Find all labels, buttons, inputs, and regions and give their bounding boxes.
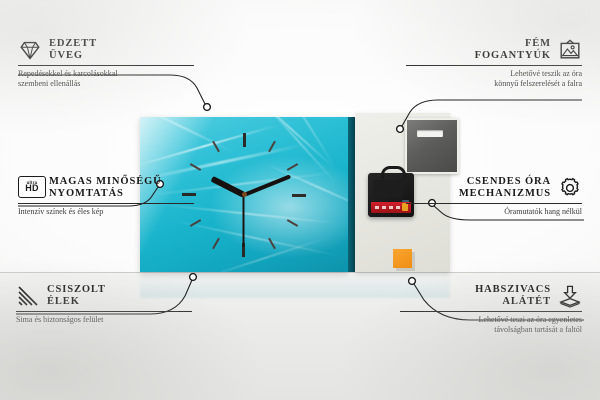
divider [18, 65, 194, 66]
feature-header: CSISZOLT ÉLEK [16, 284, 192, 308]
picture-frame-hanger-icon [558, 38, 582, 62]
feature-subtitle-line2: szembeni ellenállás [18, 79, 194, 89]
feature-title: CSENDES ÓRA MECHANIZMUS [459, 176, 551, 200]
feature-title: FÉM FOGANTYÚK [475, 38, 551, 62]
foam-pad-arrow-icon [558, 284, 582, 308]
feature-header: ultra HD MAGAS MINŐSÉGŰ NYOMTATÁS [18, 176, 194, 200]
mechanism-body-detail [373, 180, 403, 198]
clock-glass-edge [348, 117, 355, 272]
mechanism-battery [371, 202, 411, 213]
foam-spacer-pad [393, 249, 412, 268]
feature-header: FÉM FOGANTYÚK [406, 38, 582, 62]
feature-subtitle-line2: könnyű felszerelését a falra [406, 79, 582, 89]
divider [18, 203, 194, 204]
feature-subtitle-line1: Sima és biztonságos felület [16, 315, 192, 325]
feature-tempered-glass[interactable]: EDZETT ÜVEG Repedésekkel és karcolásokka… [18, 38, 194, 89]
polished-edges-icon [16, 284, 40, 308]
feature-title: CSISZOLT ÉLEK [47, 284, 106, 308]
feature-header: CSENDES ÓRA MECHANIZMUS [406, 176, 582, 200]
feature-subtitle-line2: távolságban tartását a faltól [400, 325, 582, 335]
feature-title: EDZETT ÜVEG [49, 38, 97, 62]
gear-icon [558, 176, 582, 200]
clock-center-pin [242, 192, 247, 197]
feature-foam-spacer[interactable]: HABSZIVACS ALÁTÉT Lehetővé teszi az óra … [400, 284, 582, 335]
divider [16, 311, 192, 312]
divider [406, 65, 582, 66]
feature-title: HABSZIVACS ALÁTÉT [475, 284, 551, 308]
hanger-slot [417, 130, 443, 137]
feature-title: MAGAS MINŐSÉGŰ NYOMTATÁS [49, 176, 162, 200]
feature-high-quality-print[interactable]: ultra HD MAGAS MINŐSÉGŰ NYOMTATÁS Intenz… [18, 176, 194, 217]
feature-polished-edges[interactable]: CSISZOLT ÉLEK Sima és biztonságos felüle… [16, 284, 192, 325]
diamond-icon [18, 38, 42, 62]
feature-subtitle-line1: Lehetővé teszi az óra egyenletes [400, 315, 582, 325]
feature-subtitle-line1: Óramutatók hang nélkül [406, 207, 582, 217]
feature-metal-handles[interactable]: FÉM FOGANTYÚK Lehetővé teszik az óra kön… [406, 38, 582, 89]
mechanism-hanging-loop [381, 166, 406, 179]
feature-subtitle-line1: Lehetővé teszik az óra [406, 69, 582, 79]
feature-quiet-mechanism[interactable]: CSENDES ÓRA MECHANIZMUS Óramutatók hang … [406, 176, 582, 217]
feature-subtitle-line1: Repedésekkel és karcolásokkal [18, 69, 194, 79]
feature-subtitle-line1: Intenzív színek és éles kép [18, 207, 194, 217]
divider [406, 203, 582, 204]
feature-header: HABSZIVACS ALÁTÉT [400, 284, 582, 308]
feature-header: EDZETT ÜVEG [18, 38, 194, 62]
metal-hanger-plate [405, 118, 459, 174]
divider [400, 311, 582, 312]
ultra-hd-icon: ultra HD [18, 176, 42, 200]
infographic-canvas: EDZETT ÜVEG Repedésekkel és karcolásokka… [0, 0, 600, 400]
